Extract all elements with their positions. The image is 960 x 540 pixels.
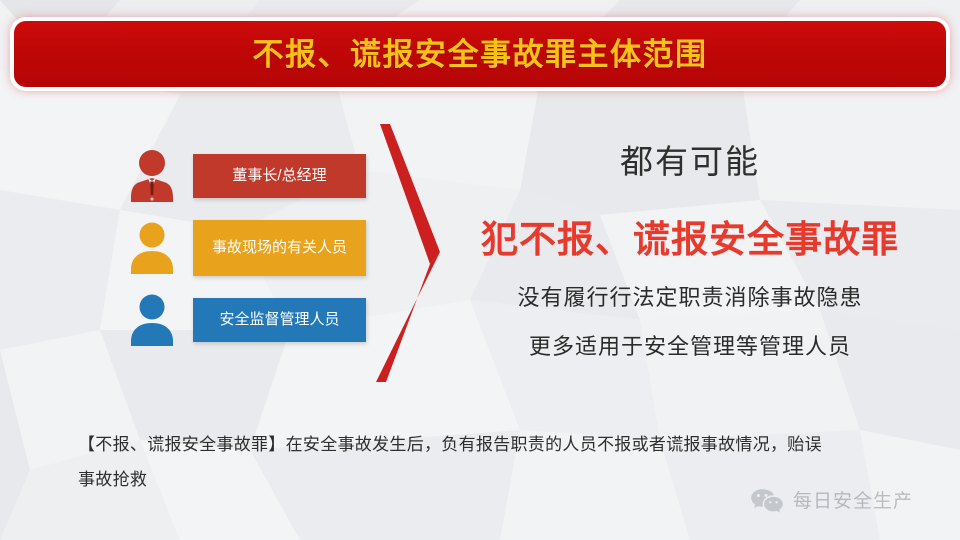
right-text-block: 都有可能 犯不报、谎报安全事故罪 没有履行行法定职责消除事故隐患 更多适用于安全… (460, 142, 920, 361)
role-label: 事故现场的有关人员 (212, 238, 347, 259)
subline-2: 更多适用于安全管理等管理人员 (460, 333, 920, 361)
title-banner: 不报、谎报安全事故罪主体范围 (14, 21, 946, 87)
role-chip-safety-supervisor[interactable]: 安全监督管理人员 (193, 298, 366, 342)
role-row-chairman[interactable]: 董事长/总经理 (126, 140, 366, 212)
crime-headline: 犯不报、谎报安全事故罪 (460, 218, 920, 262)
role-chip-scene-personnel[interactable]: 事故现场的有关人员 (193, 220, 366, 276)
watermark: 每日安全生产 (750, 487, 913, 515)
footnote-line-1: 【不报、谎报安全事故罪】在安全事故发生后，负有报告职责的人员不报或者谎报事故情况… (78, 428, 868, 463)
subline-1: 没有履行行法定职责消除事故隐患 (460, 284, 920, 312)
wechat-icon (750, 487, 784, 515)
person-icon (126, 292, 178, 348)
role-list: 董事长/总经理 事故现场的有关人员 安全监督管理人员 (126, 140, 366, 356)
role-row-scene-personnel[interactable]: 事故现场的有关人员 (126, 212, 366, 284)
role-row-safety-supervisor[interactable]: 安全监督管理人员 (126, 284, 366, 356)
role-label: 董事长/总经理 (232, 166, 326, 187)
lead-text: 都有可能 (460, 142, 920, 182)
watermark-label: 每日安全生产 (793, 492, 913, 511)
role-chip-chairman[interactable]: 董事长/总经理 (193, 154, 366, 198)
businessman-tie-icon (126, 148, 178, 204)
slide-canvas: 不报、谎报安全事故罪主体范围 董事长/总经理 (0, 0, 960, 540)
role-label: 安全监督管理人员 (219, 310, 339, 331)
person-icon (126, 220, 178, 276)
page-title: 不报、谎报安全事故罪主体范围 (253, 39, 708, 70)
